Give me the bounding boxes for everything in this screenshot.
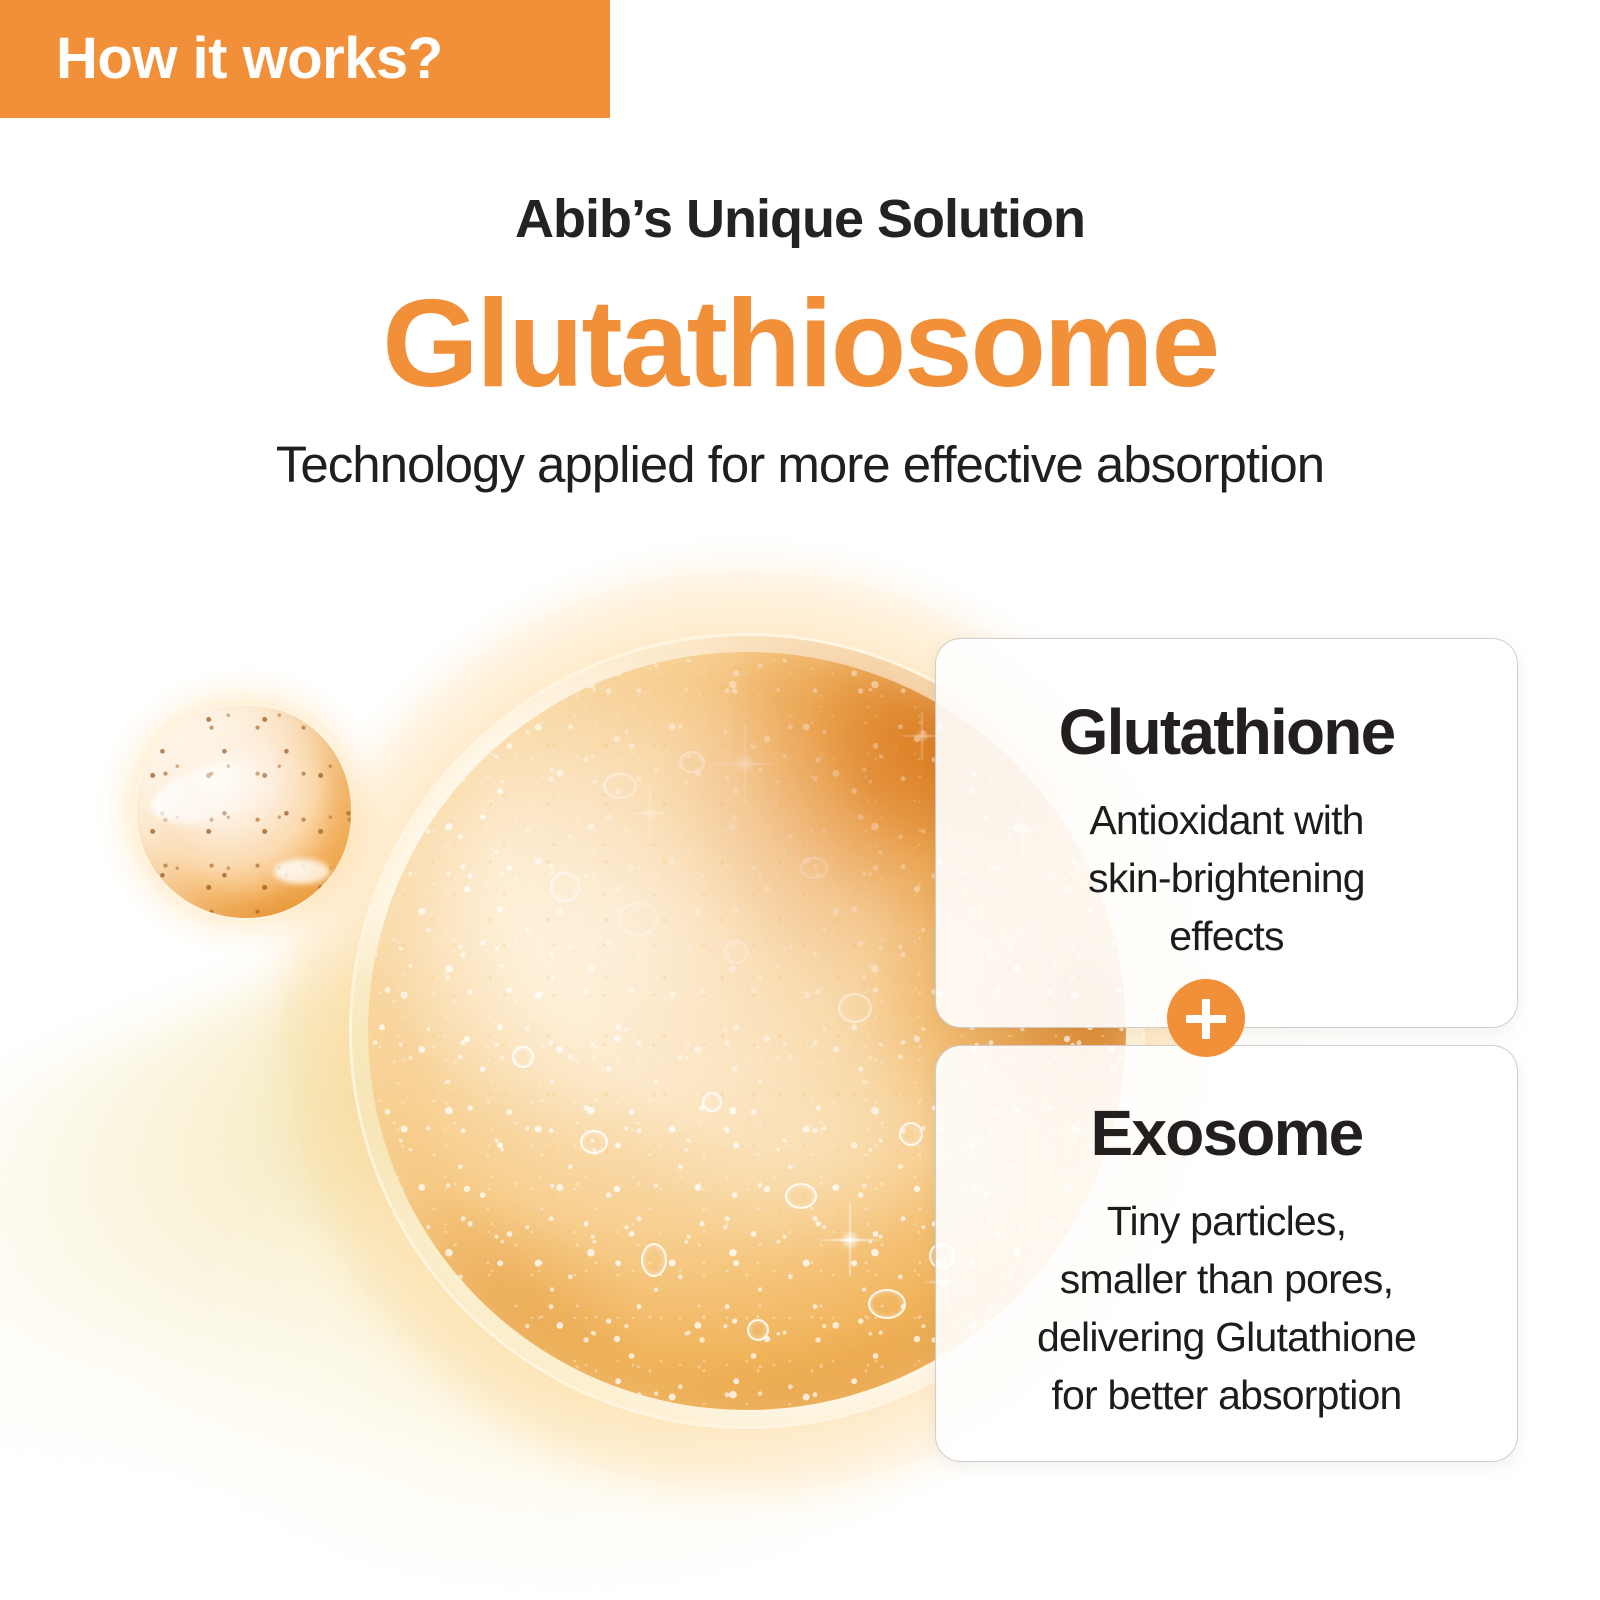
plus-icon-vertical-bar	[1202, 999, 1210, 1039]
card-body-line: Antioxidant with	[936, 791, 1517, 849]
banner-label: How it works?	[56, 30, 443, 88]
card-body-line: Tiny particles,	[936, 1192, 1517, 1250]
how-it-works-banner: How it works?	[0, 0, 610, 118]
card-body-line: effects	[936, 907, 1517, 965]
headline-text: Glutathiosome	[0, 275, 1600, 414]
card-body-line: for better absorption	[936, 1366, 1517, 1424]
card-body-line: smaller than pores,	[936, 1250, 1517, 1308]
subheadline-text: Technology applied for more effective ab…	[0, 434, 1600, 495]
ingredient-card-glutathione: Glutathione Antioxidant with skin-bright…	[935, 638, 1518, 1028]
card-body: Tiny particles, smaller than pores, deli…	[936, 1192, 1517, 1425]
heading-block: Abib’s Unique Solution Glutathiosome Tec…	[0, 190, 1600, 495]
plus-icon	[1167, 979, 1245, 1057]
card-title: Glutathione	[936, 699, 1517, 767]
eyebrow-text: Abib’s Unique Solution	[0, 190, 1600, 249]
card-body-line: skin-brightening	[936, 849, 1517, 907]
card-body-line: delivering Glutathione	[936, 1308, 1517, 1366]
ingredient-card-exosome: Exosome Tiny particles, smaller than por…	[935, 1045, 1518, 1462]
card-title: Exosome	[936, 1100, 1517, 1168]
infographic-page: How it works? Abib’s Unique Solution Glu…	[0, 0, 1600, 1600]
card-body: Antioxidant with skin-brightening effect…	[936, 791, 1517, 966]
